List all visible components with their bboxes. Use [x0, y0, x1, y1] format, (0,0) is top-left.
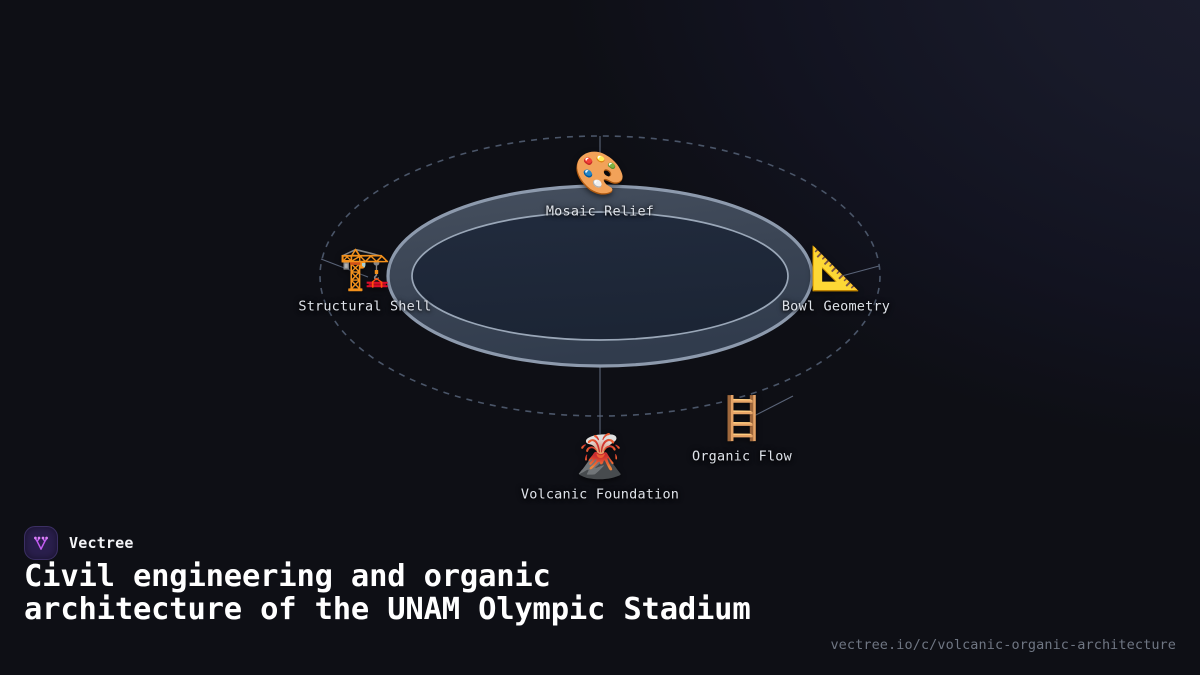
node-label-structural-shell: Structural Shell	[298, 299, 431, 315]
brand-lockup[interactable]: Vectree	[24, 526, 134, 560]
source-url: vectree.io/c/volcanic-organic-architectu…	[830, 637, 1176, 653]
construction-crane-icon: 🏗️	[339, 248, 391, 290]
brand-name: Vectree	[69, 534, 134, 552]
page-title: Civil engineering and organic architectu…	[24, 561, 784, 626]
ladder-icon: 🪜	[716, 398, 768, 440]
node-volcanic-foundation[interactable]: 🌋 Volcanic Foundation	[505, 436, 695, 503]
node-bowl-geometry[interactable]: 📐 Bowl Geometry	[741, 248, 931, 315]
vectree-logo-icon	[24, 526, 58, 560]
node-mosaic-relief[interactable]: 🎨 Mosaic Relief	[505, 153, 695, 220]
volcano-icon: 🌋	[574, 436, 626, 478]
node-label-bowl-geometry: Bowl Geometry	[782, 299, 890, 315]
node-label-organic-flow: Organic Flow	[692, 449, 792, 465]
triangular-ruler-icon: 📐	[810, 248, 862, 290]
screenshot-canvas: 🎨 Mosaic Relief 🏗️ Structural Shell 📐 Bo…	[0, 0, 1200, 675]
node-structural-shell[interactable]: 🏗️ Structural Shell	[270, 248, 460, 315]
concept-diagram: 🎨 Mosaic Relief 🏗️ Structural Shell 📐 Bo…	[0, 0, 1200, 520]
stadium-inner-bowl	[412, 212, 788, 340]
footer-panel: Vectree Civil engineering and organic ar…	[0, 515, 1200, 675]
node-label-mosaic-relief: Mosaic Relief	[546, 204, 654, 220]
node-label-volcanic-foundation: Volcanic Foundation	[521, 487, 679, 503]
artist-palette-icon: 🎨	[574, 153, 626, 195]
